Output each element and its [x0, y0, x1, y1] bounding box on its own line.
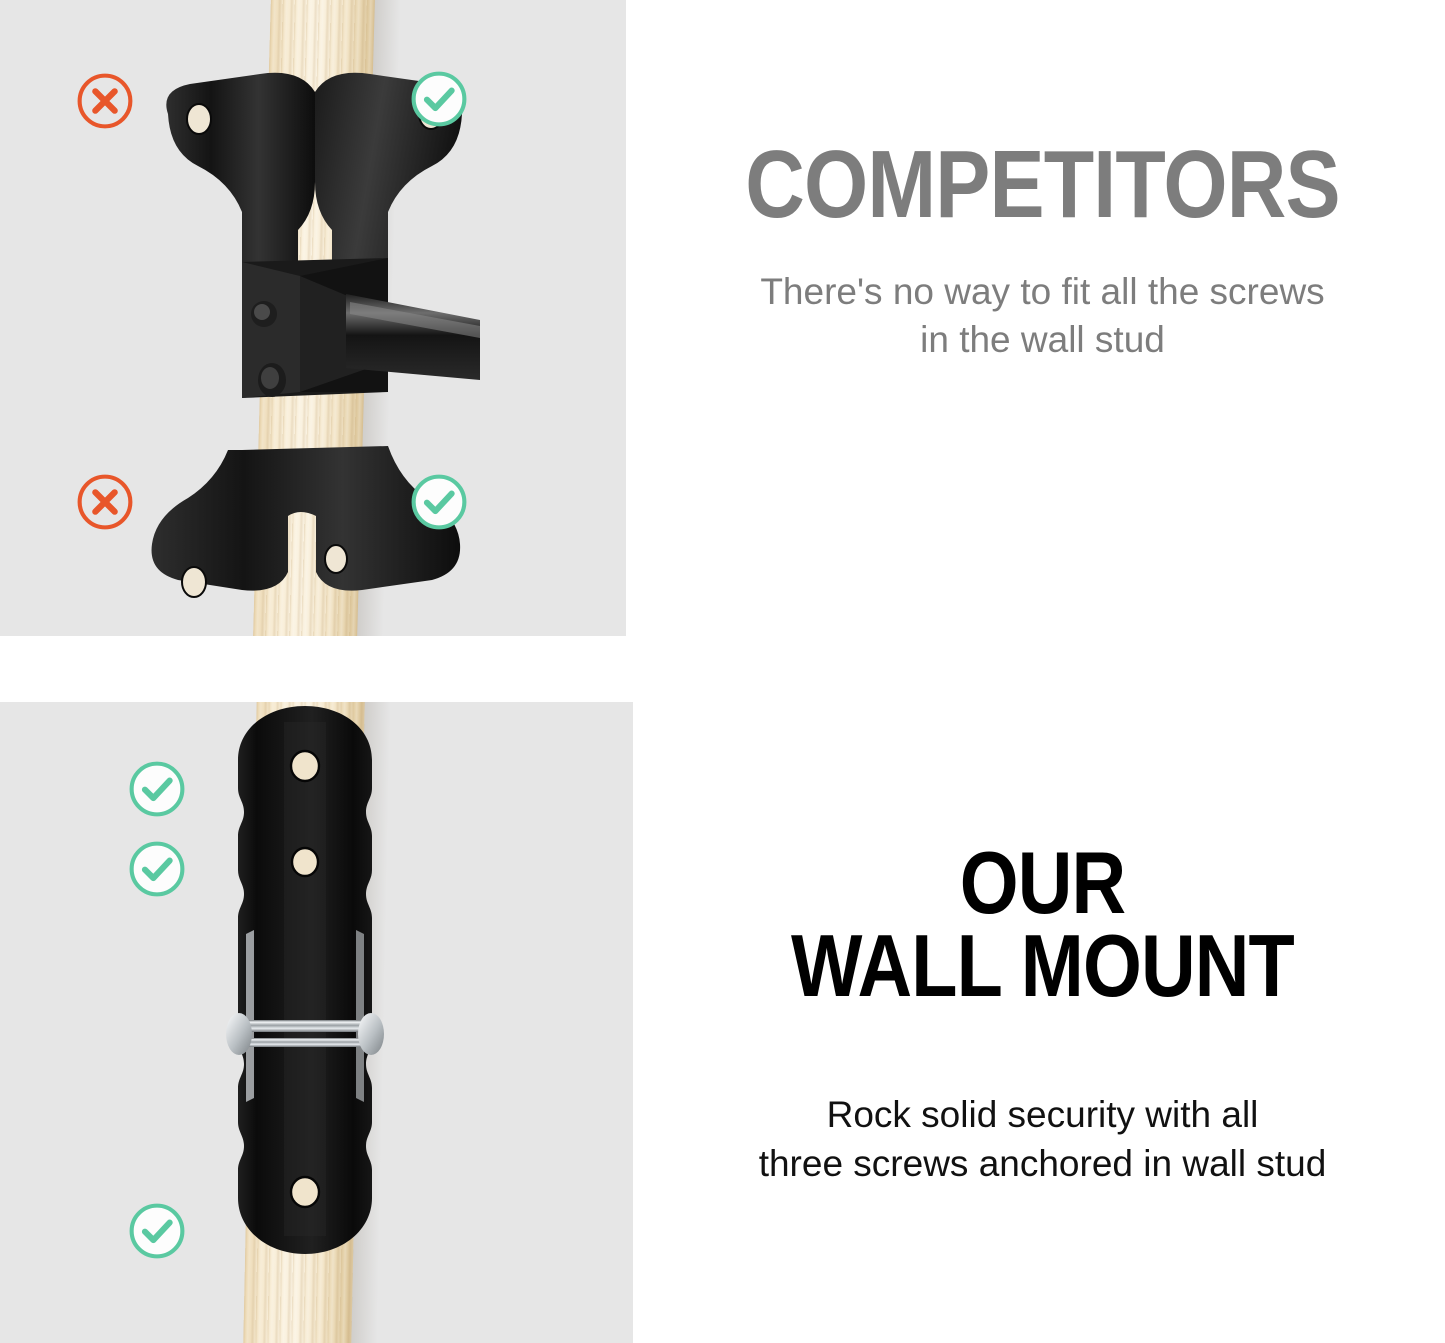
our-wall-mount-heading-line-2: WALL MOUNT — [696, 925, 1388, 1008]
check-icon — [128, 760, 186, 818]
our-wall-mount-text-block: OUR WALL MOUNT Rock solid security with … — [640, 842, 1445, 1188]
our-wall-mount-photo-panel — [0, 702, 633, 1343]
our-wall-mount-subcopy: Rock solid security with all three screw… — [640, 1091, 1445, 1187]
cross-icon — [76, 72, 134, 130]
competitors-photo-panel — [0, 0, 626, 636]
competitors-subcopy-line-2: in the wall stud — [920, 319, 1165, 360]
check-icon — [410, 473, 468, 531]
our-wall-mount-subcopy-line-1: Rock solid security with all — [827, 1094, 1259, 1135]
check-icon — [128, 840, 186, 898]
competitors-heading: COMPETITORS — [696, 140, 1388, 230]
our-wall-mount-subcopy-line-2: three screws anchored in wall stud — [759, 1143, 1327, 1184]
cross-icon — [76, 473, 134, 531]
check-icon — [128, 1202, 186, 1260]
check-icon — [410, 70, 468, 128]
competitors-subcopy: There's no way to fit all the screws in … — [640, 268, 1445, 364]
our-wall-mount-heading-line-1: OUR — [696, 842, 1388, 925]
competitors-text-block: COMPETITORS There's no way to fit all th… — [640, 140, 1445, 364]
competitors-subcopy-line-1: There's no way to fit all the screws — [760, 271, 1324, 312]
